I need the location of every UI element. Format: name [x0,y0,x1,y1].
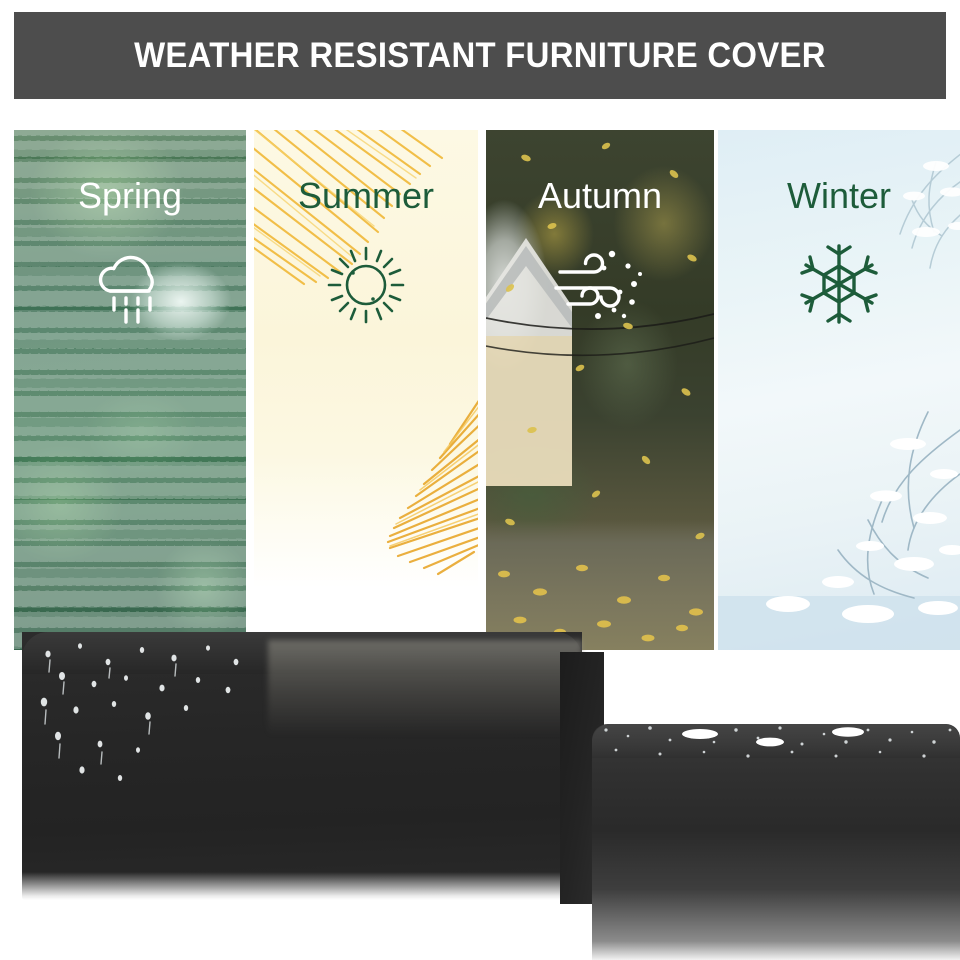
furniture-cover-front-section [592,724,960,960]
cover-left-highlight [268,640,582,736]
snowflake-icon [797,240,881,328]
season-panel-strip: Spring [0,130,960,650]
sun-icon [323,242,409,328]
palm-frond-bottom-icon [364,366,478,576]
season-label-winter: Winter [718,175,960,217]
season-panel-autumn: Autumn [486,130,714,650]
rain-cloud-icon [88,242,172,328]
cover-right-top-face [592,724,960,758]
page-title: WEATHER RESISTANT FURNITURE COVER [134,36,826,76]
season-panel-winter: Winter [718,130,960,650]
product-marketing-image: WEATHER RESISTANT FURNITURE COVER Spring [0,0,960,960]
season-label-spring: Spring [14,175,246,217]
snowy-branches-lower [718,400,960,650]
cover-left-bottom-fade [22,872,582,900]
wind-icon [554,244,646,324]
furniture-cover-left-section [22,632,582,900]
season-panel-summer: Summer [254,130,478,650]
season-label-summer: Summer [254,175,478,217]
season-panel-spring: Spring [14,130,246,650]
header-banner: WEATHER RESISTANT FURNITURE COVER [14,12,946,99]
season-label-autumn: Autumn [486,175,714,217]
